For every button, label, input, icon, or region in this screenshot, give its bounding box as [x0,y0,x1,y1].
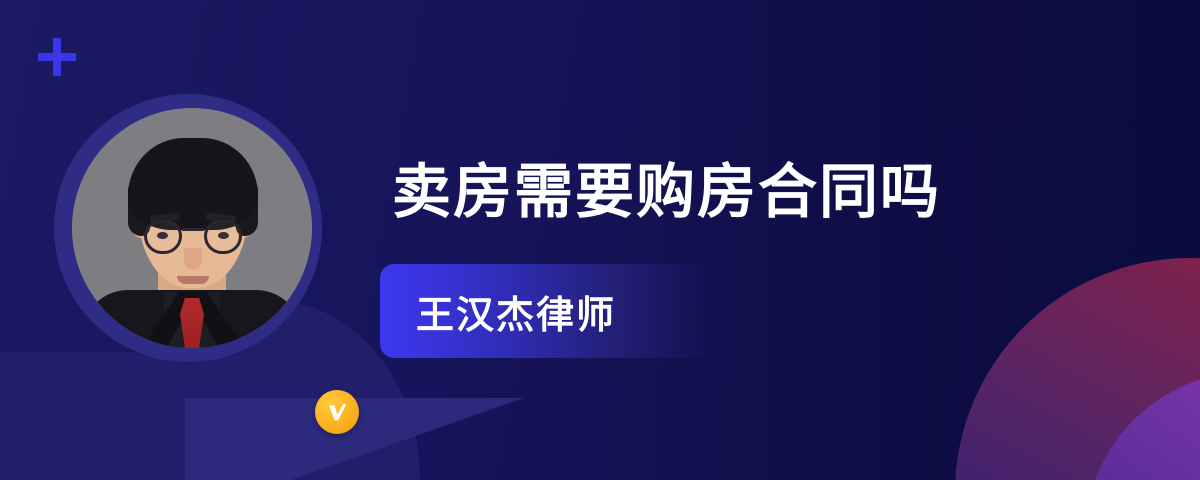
presenter-badge: 王汉杰律师 [380,264,710,358]
banner-root: 卖房需要购房合同吗 王汉杰律师 [0,0,1200,480]
portrait-mouth [177,276,209,284]
plus-icon [38,38,76,76]
portrait-glasses-left [144,220,182,254]
portrait-nose [184,248,202,270]
avatar [54,94,322,362]
portrait-glasses-bridge [182,228,204,231]
portrait-hair [128,138,258,230]
decorative-band-shape [0,352,163,480]
verified-v-icon [315,390,359,434]
portrait-glasses-right [204,220,242,254]
page-title: 卖房需要购房合同吗 [392,163,941,222]
presenter-name: 王汉杰律师 [416,284,616,339]
avatar-photo [72,108,312,348]
